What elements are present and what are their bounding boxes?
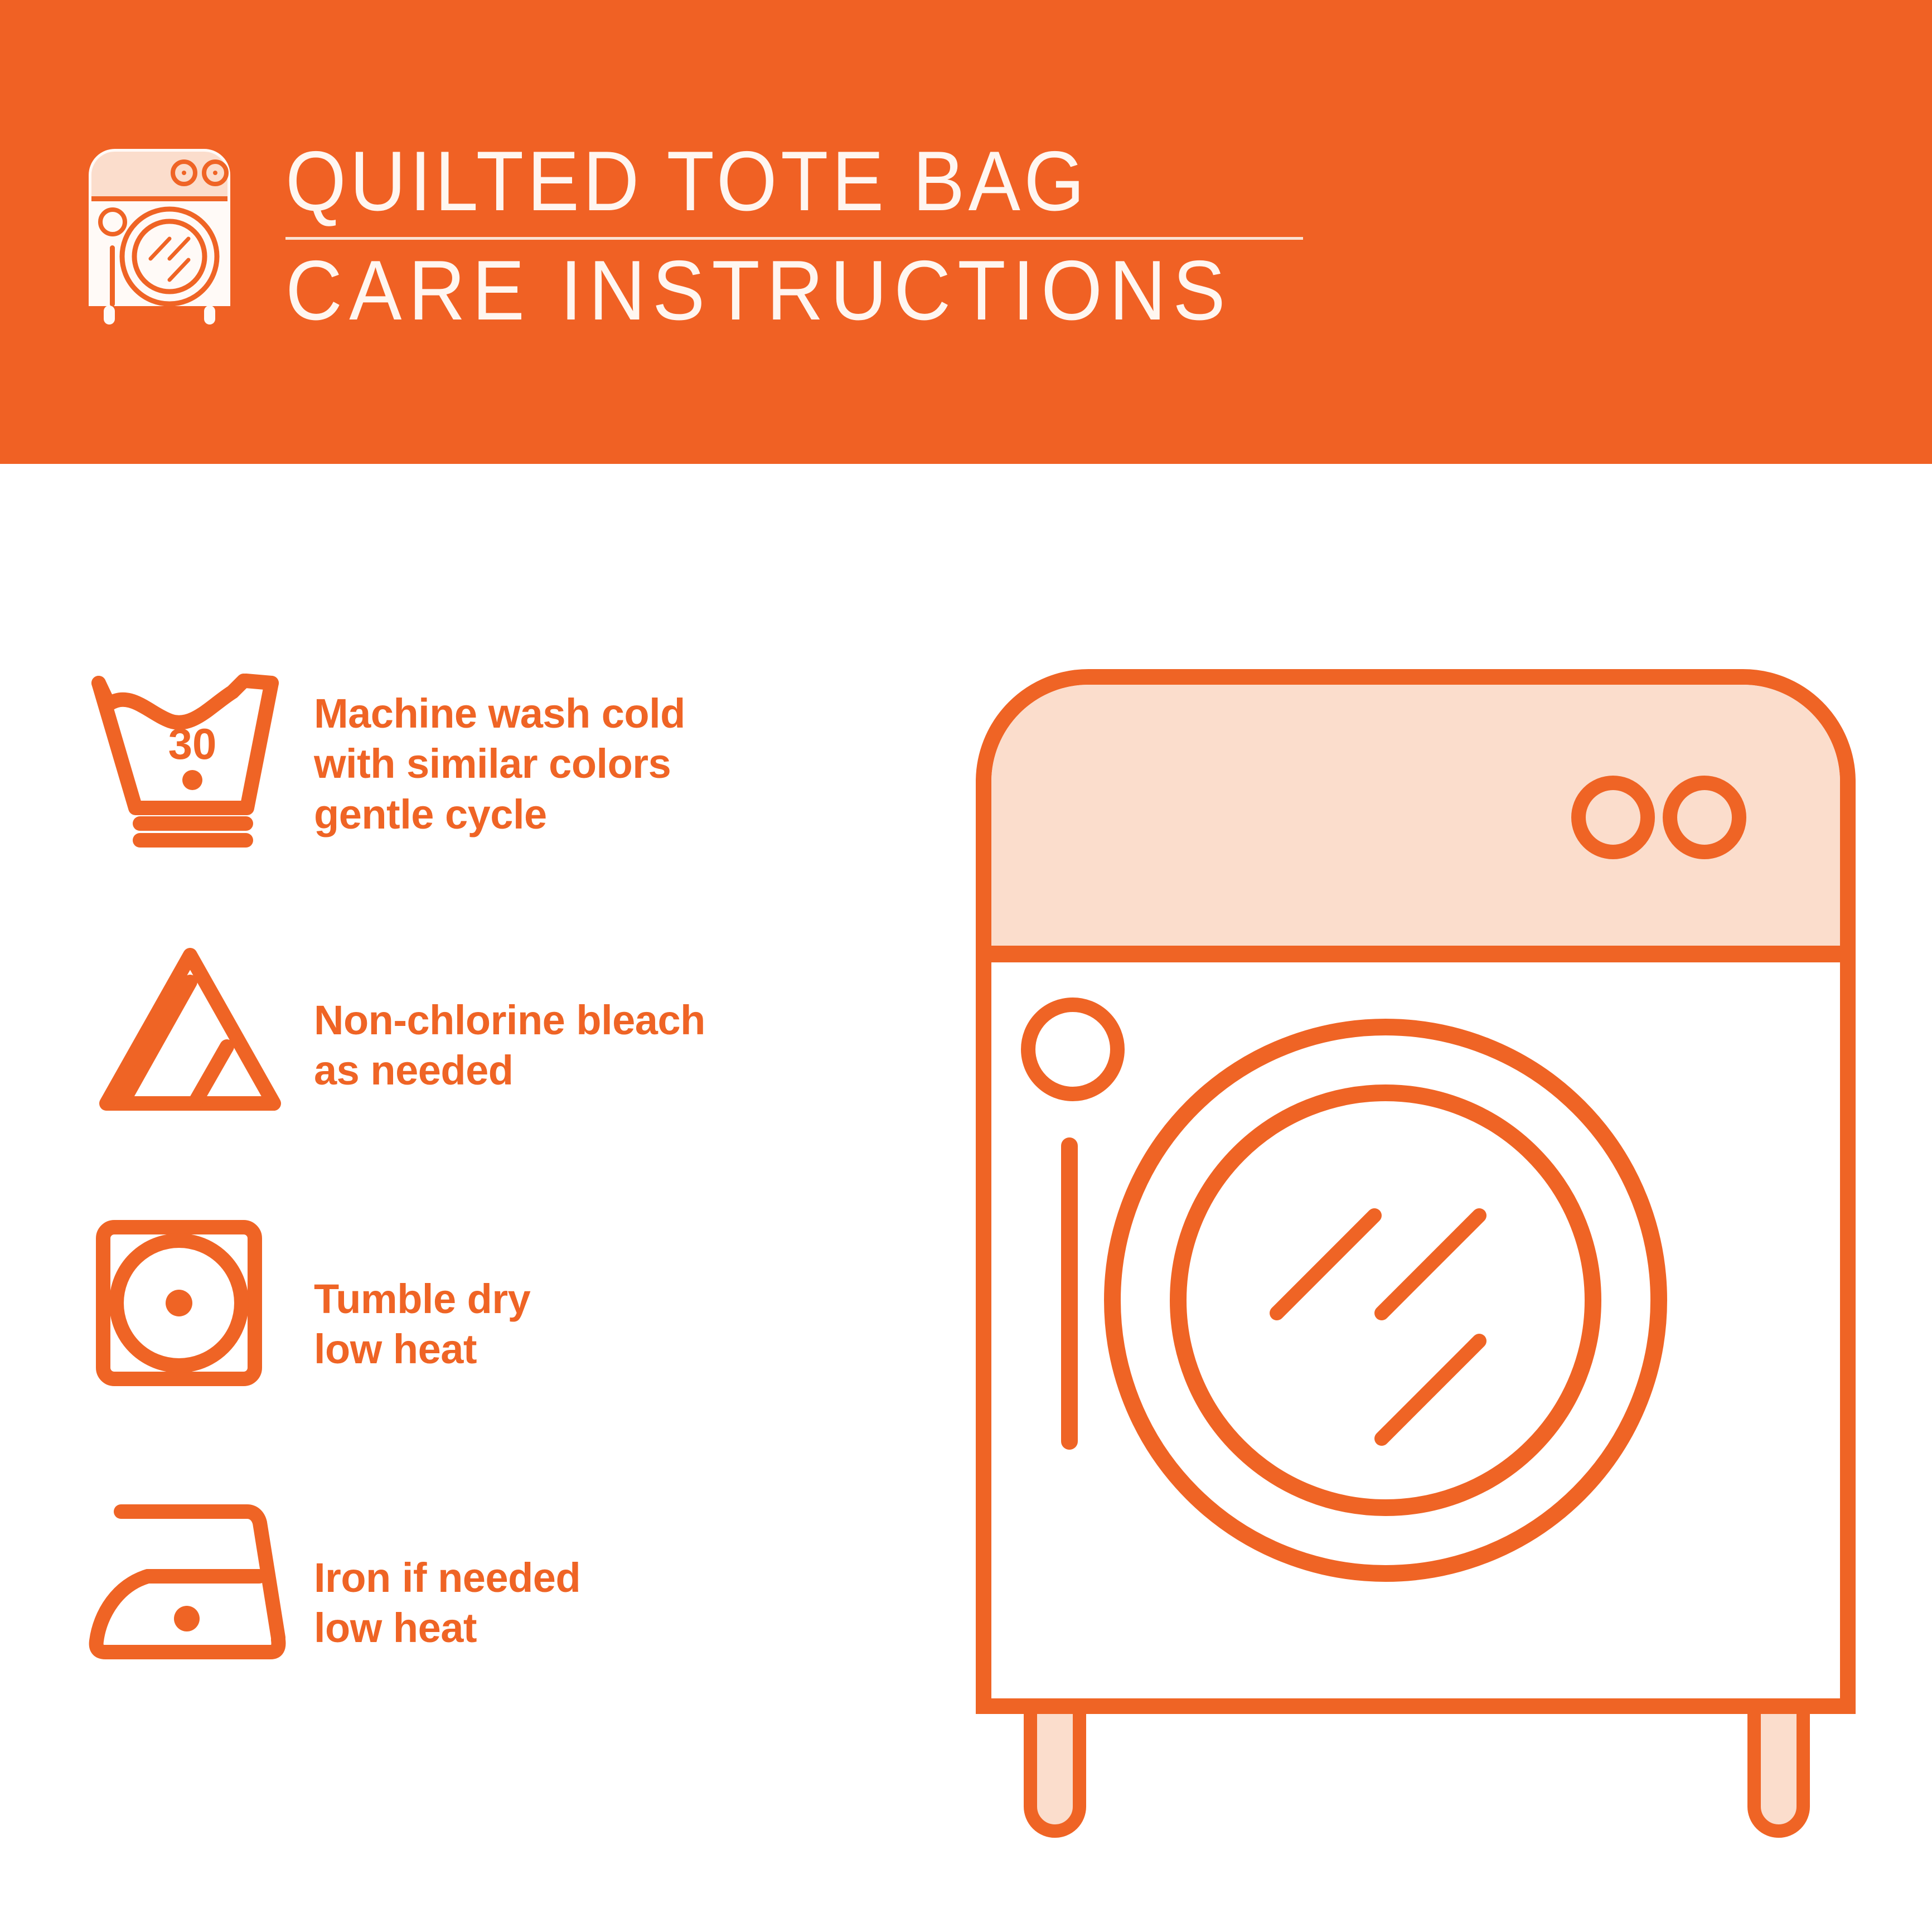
- care-label-line: Iron if needed: [314, 1553, 923, 1603]
- page-title: QUILTED TOTE BAG: [285, 138, 1224, 225]
- care-label-line: as needed: [314, 1045, 923, 1096]
- header-title-group: QUILTED TOTE BAG CARE INSTRUCTIONS: [285, 138, 1306, 334]
- care-label-line: Non-chlorine bleach: [314, 995, 923, 1045]
- wash-temperature-label: 30: [168, 719, 217, 768]
- care-label-tumble-dry: Tumble dry low heat: [309, 1274, 923, 1375]
- wash-tub-30-icon: 30: [86, 671, 309, 894]
- title-divider: [285, 237, 1303, 240]
- door-latch-bar: [1061, 1137, 1078, 1450]
- care-row-bleach: Non-chlorine bleach as needed: [86, 934, 923, 1207]
- iron-low-heat-icon: [86, 1497, 309, 1720]
- care-label-line: Tumble dry: [314, 1274, 923, 1324]
- care-label-line: with similar colors: [314, 739, 923, 789]
- knob-left: [1578, 783, 1648, 852]
- tumble-dry-low-icon: [86, 1213, 309, 1436]
- care-label-iron: Iron if needed low heat: [309, 1553, 923, 1654]
- care-label-bleach: Non-chlorine bleach as needed: [309, 995, 923, 1096]
- leg-right: [1754, 1706, 1803, 1831]
- header-band: QUILTED TOTE BAG CARE INSTRUCTIONS: [0, 0, 1932, 464]
- non-chlorine-bleach-triangle-icon: [86, 941, 309, 1164]
- care-row-machine-wash: 30 Machine wash cold with similar colors…: [86, 661, 923, 934]
- large-washing-machine-illustration: [965, 630, 1868, 1857]
- care-row-tumble-dry: Tumble dry low heat: [86, 1207, 923, 1480]
- care-label-line: gentle cycle: [314, 790, 923, 840]
- page-subtitle: CARE INSTRUCTIONS: [285, 248, 1234, 334]
- leg-left: [1030, 1706, 1079, 1831]
- care-instructions-list: 30 Machine wash cold with similar colors…: [86, 661, 923, 1754]
- header-content: QUILTED TOTE BAG CARE INSTRUCTIONS: [85, 138, 1306, 334]
- washing-machine-icon: [85, 141, 234, 325]
- care-row-iron: Iron if needed low heat: [86, 1480, 923, 1754]
- care-label-line: low heat: [314, 1603, 923, 1653]
- care-label-line: low heat: [314, 1324, 923, 1374]
- care-label-machine-wash: Machine wash cold with similar colors ge…: [309, 689, 923, 840]
- panel-separator: [984, 946, 1848, 962]
- care-label-line: Machine wash cold: [314, 689, 923, 739]
- knob-right: [1670, 783, 1739, 852]
